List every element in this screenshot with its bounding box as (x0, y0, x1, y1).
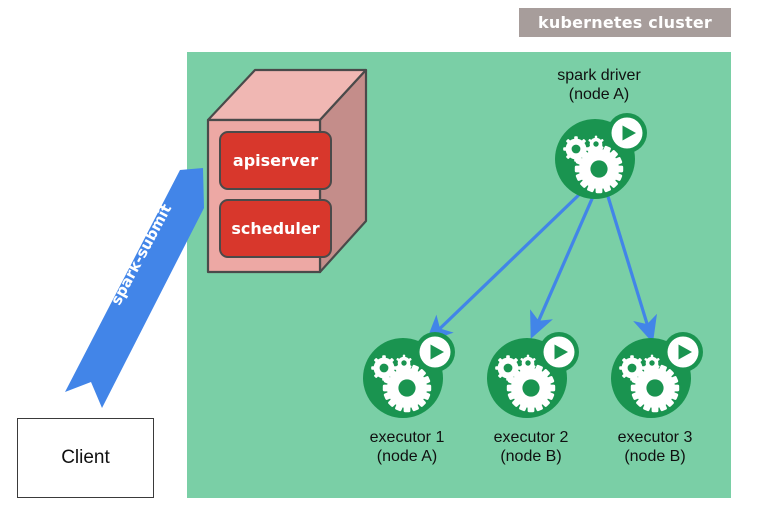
spark-driver-label-line2: (node A) (524, 85, 674, 104)
executor-2-node[interactable] (483, 330, 579, 422)
kubernetes-cluster-badge-label: kubernetes cluster (538, 13, 712, 32)
large-gear-hub (646, 379, 663, 396)
client-label: Client (61, 447, 110, 469)
small-gear-hub (525, 360, 530, 365)
gears-play-icon (555, 113, 647, 199)
medium-gear-hub (572, 145, 581, 154)
executor-1-label-line1: executor 1 (370, 429, 445, 446)
apiserver-label: apiserver (233, 151, 318, 170)
large-gear-hub (522, 379, 539, 396)
architecture-diagram: kubernetes cluster apiserver scheduler s… (0, 0, 761, 516)
executor-3-label: executor 3 (node B) (580, 428, 730, 466)
kubernetes-cluster-badge: kubernetes cluster (519, 8, 731, 37)
executor-2-label-line1: executor 2 (494, 429, 569, 446)
executor-3-label-line1: executor 3 (618, 429, 693, 446)
large-gear-hub (590, 160, 607, 177)
small-gear-hub (593, 141, 598, 146)
gears-play-icon (487, 332, 579, 418)
executor-3-label-line2: (node B) (580, 447, 730, 466)
medium-gear-hub (504, 364, 513, 373)
spark-driver-label: spark driver (node A) (524, 66, 674, 104)
scheduler-component[interactable]: scheduler (219, 199, 332, 258)
small-gear-hub (649, 360, 654, 365)
executor-3-node[interactable] (607, 330, 703, 422)
client-box[interactable]: Client (17, 418, 154, 498)
medium-gear-hub (380, 364, 389, 373)
gears-play-icon (611, 332, 703, 418)
scheduler-label: scheduler (231, 219, 319, 238)
small-gear-hub (401, 360, 406, 365)
executor-1-node[interactable] (359, 330, 455, 422)
gears-play-icon (363, 332, 455, 418)
medium-gear-hub (628, 364, 637, 373)
apiserver-component[interactable]: apiserver (219, 131, 332, 190)
large-gear-hub (398, 379, 415, 396)
spark-driver-label-line1: spark driver (557, 67, 641, 84)
spark-driver-node[interactable] (551, 111, 647, 203)
